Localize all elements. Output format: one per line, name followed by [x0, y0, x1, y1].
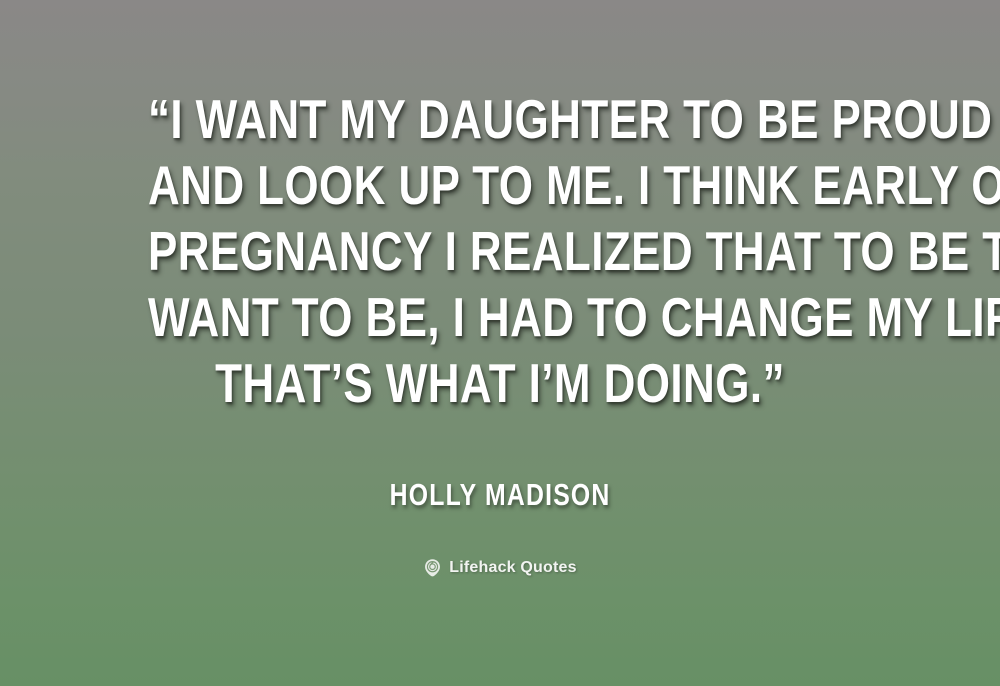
brand-footer: Lifehack Quotes: [423, 558, 576, 577]
lifehack-circle-logo-icon: [423, 558, 442, 577]
quote-line: WANT TO BE, I HAD TO CHANGE MY LIFE, AND: [148, 284, 852, 350]
brand-label: Lifehack Quotes: [449, 559, 576, 577]
author-name: HOLLY MADISON: [390, 478, 611, 512]
quote-line: AND LOOK UP TO ME. I THINK EARLY ON IN M…: [148, 152, 852, 218]
quote-card: “I WANT MY DAUGHTER TO BE PROUD OF ME AN…: [0, 0, 1000, 686]
quote-text-block: “I WANT MY DAUGHTER TO BE PROUD OF ME AN…: [60, 86, 940, 416]
quote-line: “I WANT MY DAUGHTER TO BE PROUD OF ME: [148, 86, 852, 152]
quote-line: THAT’S WHAT I’M DOING.”: [148, 350, 852, 416]
quote-line: PREGNANCY I REALIZED THAT TO BE THE MOM …: [148, 218, 852, 284]
